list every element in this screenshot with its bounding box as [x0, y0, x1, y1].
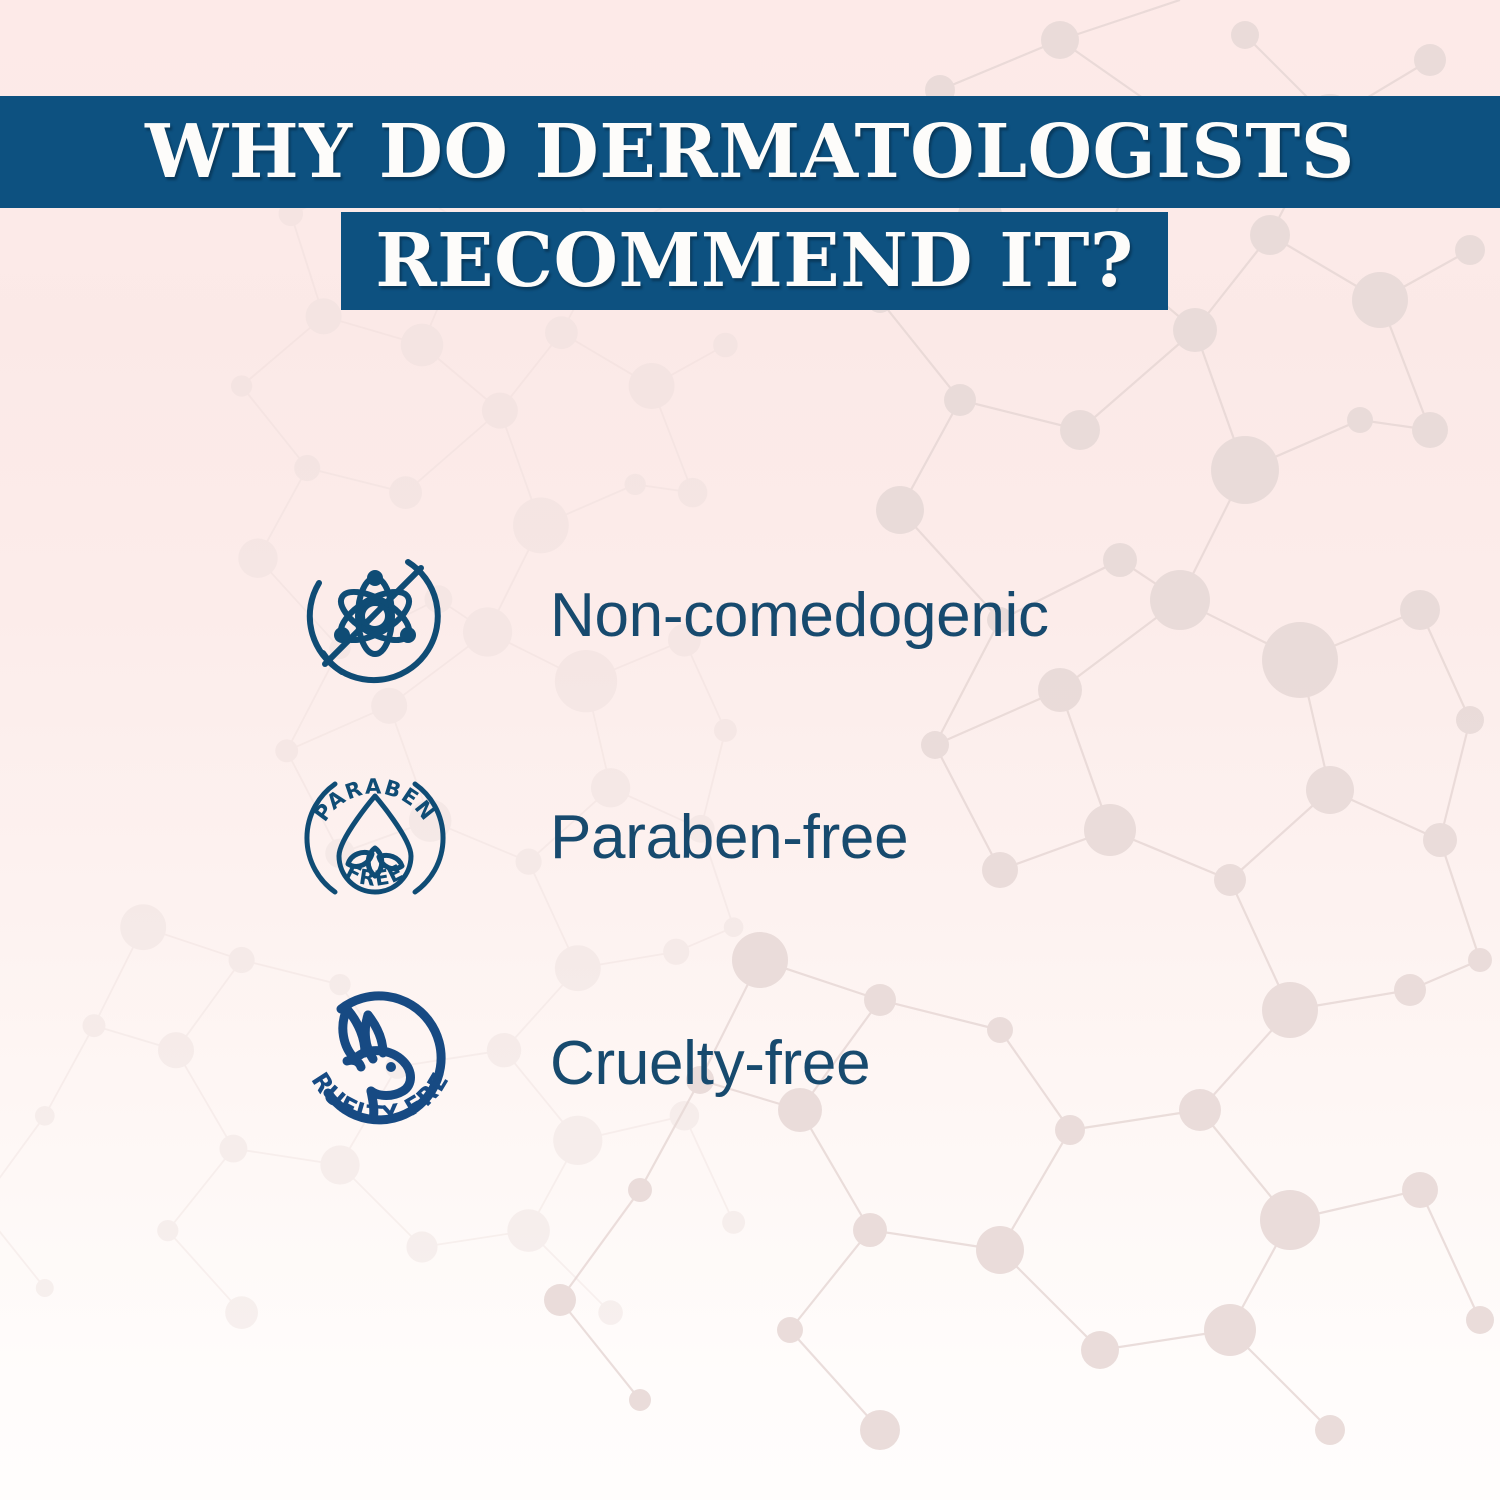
bunny-eye-icon — [386, 1062, 396, 1072]
benefit-row-cruelty-free: CRUELTY FREE Cruelty-free — [0, 964, 1500, 1164]
benefit-row-paraben-free: PARABEN FREE Paraben-free — [0, 738, 1500, 938]
headline-line-1: WHY DO DERMATOLOGISTS — [0, 96, 1500, 208]
non-comedogenic-icon — [295, 536, 455, 696]
benefit-label-non-comedogenic: Non-comedogenic — [550, 585, 1049, 647]
cruelty-free-icon-cell: CRUELTY FREE — [295, 979, 495, 1149]
cruelty-free-icon: CRUELTY FREE — [295, 979, 465, 1149]
benefit-label-cruelty-free: Cruelty-free — [550, 1033, 870, 1095]
paraben-free-icon-cell: PARABEN FREE — [295, 753, 495, 923]
paraben-badge-top-text: PARABEN — [309, 774, 440, 825]
benefit-label-paraben-free: Paraben-free — [550, 807, 908, 869]
non-comedogenic-icon-cell — [295, 531, 495, 701]
headline-line-2: RECOMMEND IT? — [341, 212, 1168, 310]
paraben-free-icon: PARABEN FREE — [295, 758, 455, 918]
poster-canvas: WHY DO DERMATOLOGISTS RECOMMEND IT? — [0, 0, 1500, 1500]
benefit-row-non-comedogenic: Non-comedogenic — [0, 516, 1500, 716]
